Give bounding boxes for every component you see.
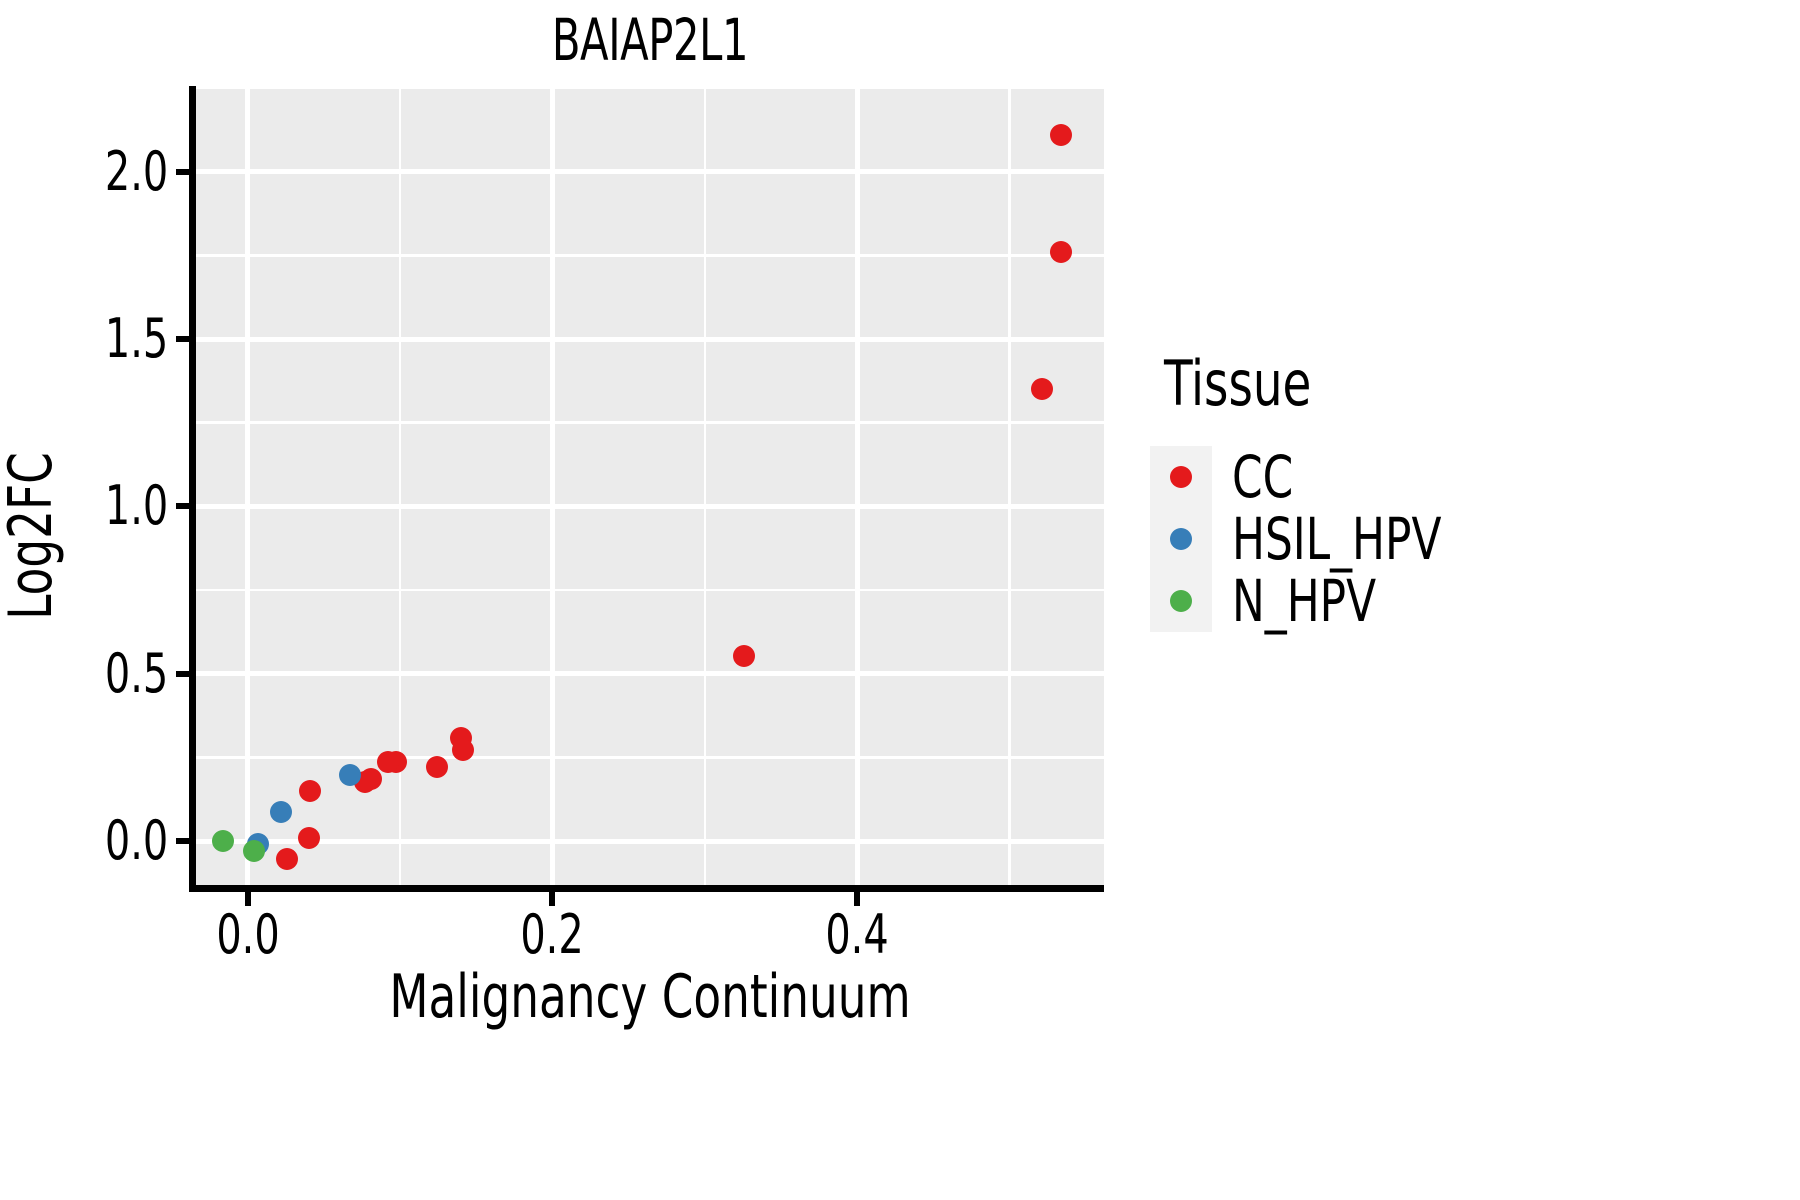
- data-point-cc: [1050, 241, 1072, 263]
- gridline-major-vertical: [245, 88, 250, 888]
- legend-key-swatch: [1150, 508, 1212, 570]
- gridline-minor-horizontal: [196, 589, 1104, 592]
- gridline-major-horizontal: [196, 504, 1104, 509]
- gridline-major-horizontal: [196, 337, 1104, 342]
- x-tick-label: 0.0: [166, 906, 330, 964]
- legend-item-label: HSIL_HPV: [1232, 508, 1441, 570]
- gridline-minor-vertical: [704, 88, 707, 888]
- y-tick-mark: [176, 503, 190, 509]
- legend-items: CCHSIL_HPVN_HPV: [1150, 446, 1670, 632]
- data-point-cc: [426, 756, 448, 778]
- y-tick-label: 0.0: [105, 814, 168, 868]
- y-axis-title: Log2FC: [0, 284, 62, 788]
- gridline-major-vertical: [855, 88, 860, 888]
- legend-item-label: CC: [1232, 446, 1293, 508]
- gridline-major-horizontal: [196, 169, 1104, 174]
- legend-item-cc[interactable]: CC: [1150, 446, 1670, 508]
- legend: Tissue CCHSIL_HPVN_HPV: [1150, 350, 1670, 632]
- legend-item-label: N_HPV: [1232, 570, 1376, 632]
- legend-key-swatch: [1150, 570, 1212, 632]
- legend-key-swatch: [1150, 446, 1212, 508]
- plot-panel: [196, 88, 1104, 888]
- legend-dot-icon: [1170, 590, 1192, 612]
- x-tick-label: 0.2: [470, 906, 634, 964]
- gridline-minor-horizontal: [196, 254, 1104, 257]
- y-tick-label: 0.5: [105, 647, 168, 701]
- y-tick-label: 1.0: [105, 479, 168, 533]
- gridline-major-horizontal: [196, 671, 1104, 676]
- data-point-cc: [1050, 124, 1072, 146]
- x-axis-line: [189, 885, 1104, 892]
- legend-dot-icon: [1170, 528, 1192, 550]
- legend-dot-icon: [1170, 466, 1192, 488]
- y-tick-mark: [176, 838, 190, 844]
- data-point-n-hpv: [212, 830, 234, 852]
- y-tick-label: 1.5: [105, 312, 168, 366]
- gridline-minor-horizontal: [196, 88, 1104, 89]
- y-tick-mark: [176, 169, 190, 175]
- y-tick-mark: [176, 336, 190, 342]
- data-point-hsil-hpv: [339, 764, 361, 786]
- legend-title: Tissue: [1164, 350, 1589, 418]
- x-axis-title: Malignancy Continuum: [269, 962, 1032, 1032]
- gridline-major-horizontal: [196, 839, 1104, 844]
- legend-item-hsil-hpv[interactable]: HSIL_HPV: [1150, 508, 1670, 570]
- data-point-cc: [1031, 378, 1053, 400]
- x-tick-label: 0.4: [775, 906, 939, 964]
- page-title: BAIAP2L1: [287, 8, 1013, 72]
- data-point-cc: [452, 739, 474, 761]
- data-point-cc: [298, 827, 320, 849]
- gridline-minor-horizontal: [196, 421, 1104, 424]
- y-tick-label: 2.0: [105, 145, 168, 199]
- chart-canvas: BAIAP2L1 0.00.51.01.52.0 0.00.20.4 Malig…: [0, 0, 1800, 1200]
- data-point-n-hpv: [243, 840, 265, 862]
- data-point-cc: [299, 780, 321, 802]
- y-tick-mark: [176, 671, 190, 677]
- data-point-cc: [276, 848, 298, 870]
- data-point-cc: [733, 645, 755, 667]
- gridline-major-vertical: [550, 88, 555, 888]
- gridline-minor-vertical: [1008, 88, 1011, 888]
- legend-item-n-hpv[interactable]: N_HPV: [1150, 570, 1670, 632]
- gridline-minor-horizontal: [196, 756, 1104, 759]
- data-point-hsil-hpv: [270, 801, 292, 823]
- y-axis-line: [189, 86, 196, 892]
